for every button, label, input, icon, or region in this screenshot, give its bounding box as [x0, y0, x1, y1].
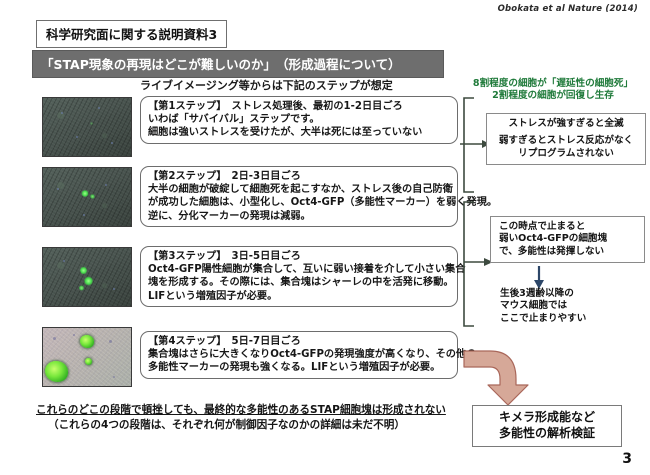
- lead-text: ライブイメージング等からは下記のステップが想定: [140, 77, 393, 93]
- note-mouse-line-2: マウス細胞では: [500, 300, 645, 312]
- green-annotation-note: 8割程度の細胞が「遅延性の細胞死」 2割程度の細胞が回復し生存: [458, 78, 648, 102]
- down-arrow-blue-icon: [531, 266, 547, 290]
- micrograph-step-4: [42, 327, 132, 387]
- green-note-line-1: 8割程度の細胞が「遅延性の細胞死」: [458, 78, 648, 90]
- subject-title-bar: 「STAP現象の再現はどこが難しいのか」 （形成過程について）: [32, 50, 444, 78]
- micrograph-step-1: [42, 97, 132, 157]
- note-mouse-line-1: 生後3週齢以降の: [500, 288, 645, 300]
- step-3-heading: 【第3ステップ】 3日-5日目ごろ: [148, 250, 451, 263]
- note-stress-line-2: 弱すぎるとストレス反応がなく: [491, 135, 641, 147]
- page-number: 3: [622, 451, 632, 467]
- micrograph-step-3: [42, 247, 132, 307]
- step-box-4: 【第4ステップ】 5日-7日目ごろ 集合塊はさらに大きくなりOct4-GFPの発…: [140, 331, 458, 379]
- step-2-line-4: 逆に、分化マーカーの発現は減弱。: [148, 210, 451, 223]
- curved-arrow-salmon-icon: [460, 345, 552, 407]
- citation: Obokata et al Nature (2014): [498, 4, 638, 14]
- step-4-line-2: 集合塊はさらに大きくなりOct4-GFPの発現強度が高くなり、その他の: [148, 348, 451, 361]
- note-box-stress-balance: ストレスが強すぎると全滅 弱すぎるとストレス反応がなく リプログラムされない: [486, 113, 646, 165]
- note-stress-line-3: リプログラムされない: [491, 148, 641, 160]
- result-line-1: キメラ形成能など: [479, 410, 615, 426]
- green-note-line-2: 2割程度の細胞が回復し生存: [458, 90, 648, 102]
- micrograph-step-2: [42, 167, 132, 227]
- step-3-line-4: LIFという増殖因子が必要。: [148, 290, 451, 303]
- note-stress-line-1: ストレスが強すぎると全滅: [491, 118, 641, 130]
- step-2-line-3: が成功した細胞は、小型化し、Oct4-GFP（多能性マーカー）を弱く発現。: [148, 196, 451, 209]
- step-box-1: 【第1ステップ】 ストレス処理後、最初の1-2日目ごろ いわば「サバイバル」ステ…: [140, 96, 458, 144]
- result-line-2: 多能性の解析検証: [479, 426, 615, 442]
- step-2-line-2: 大半の細胞が破綻して細胞死を起こすなか、ストレス後の自己防衛: [148, 183, 451, 196]
- bracket-connector-bottom: [460, 200, 494, 330]
- step-3-line-3: 塊を形成する。その際には、集合塊はシャーレの中を活発に移動。: [148, 276, 451, 289]
- step-1-heading: 【第1ステップ】 ストレス処理後、最初の1-2日目ごろ: [148, 100, 451, 113]
- step-box-3: 【第3ステップ】 3日-5日目ごろ Oct4-GFP陽性細胞が集合して、互いに弱…: [140, 246, 458, 307]
- document-title: 科学研究面に関する説明資料3: [36, 20, 227, 48]
- micrograph-step-4-content: [43, 328, 131, 386]
- note-stop-line-3: で、多能性は発揮しない: [495, 246, 640, 258]
- micrograph-step-2-content: [43, 168, 131, 226]
- note-mouse-cell-stall: 生後3週齢以降の マウス細胞では ここで止まりやすい: [500, 288, 645, 325]
- step-box-2: 【第2ステップ】 2日-3日目ごろ 大半の細胞が破綻して細胞死を起こすなか、スト…: [140, 166, 458, 227]
- step-3-line-2: Oct4-GFP陽性細胞が集合して、互いに弱い接着を介して小さい集合: [148, 263, 451, 276]
- summary-line-2: （これらの4つの段階は、それぞれ何が制御因子なのかの詳細は未だ不明）: [36, 418, 446, 433]
- micrograph-step-3-content: [43, 248, 131, 306]
- note-mouse-line-3: ここで止まりやすい: [500, 313, 645, 325]
- step-4-line-3: 多能性マーカーの発現も強くなる。LIFという増殖因子が必要。: [148, 361, 451, 374]
- summary-line-1: これらのどこの段階で頓挫しても、最終的な多能性のあるSTAP細胞塊は形成されない: [36, 403, 446, 418]
- note-stop-line-1: この時点で止まると: [495, 221, 640, 233]
- step-1-line-3: 細胞は強いストレスを受けたが、大半は死には至っていない: [148, 126, 451, 139]
- micrograph-step-1-content: [43, 98, 131, 156]
- summary-text: これらのどこの段階で頓挫しても、最終的な多能性のあるSTAP細胞塊は形成されない…: [36, 403, 446, 433]
- note-stop-line-2: 弱いOct4-GFPの細胞塊: [495, 233, 640, 245]
- step-4-heading: 【第4ステップ】 5日-7日目ごろ: [148, 335, 451, 348]
- step-1-line-2: いわば「サバイバル」ステップです。: [148, 113, 451, 126]
- note-box-halted-state: この時点で止まると 弱いOct4-GFPの細胞塊 で、多能性は発揮しない: [490, 216, 645, 263]
- result-box-verification: キメラ形成能など 多能性の解析検証: [472, 405, 622, 447]
- step-2-heading: 【第2ステップ】 2日-3日目ごろ: [148, 170, 451, 183]
